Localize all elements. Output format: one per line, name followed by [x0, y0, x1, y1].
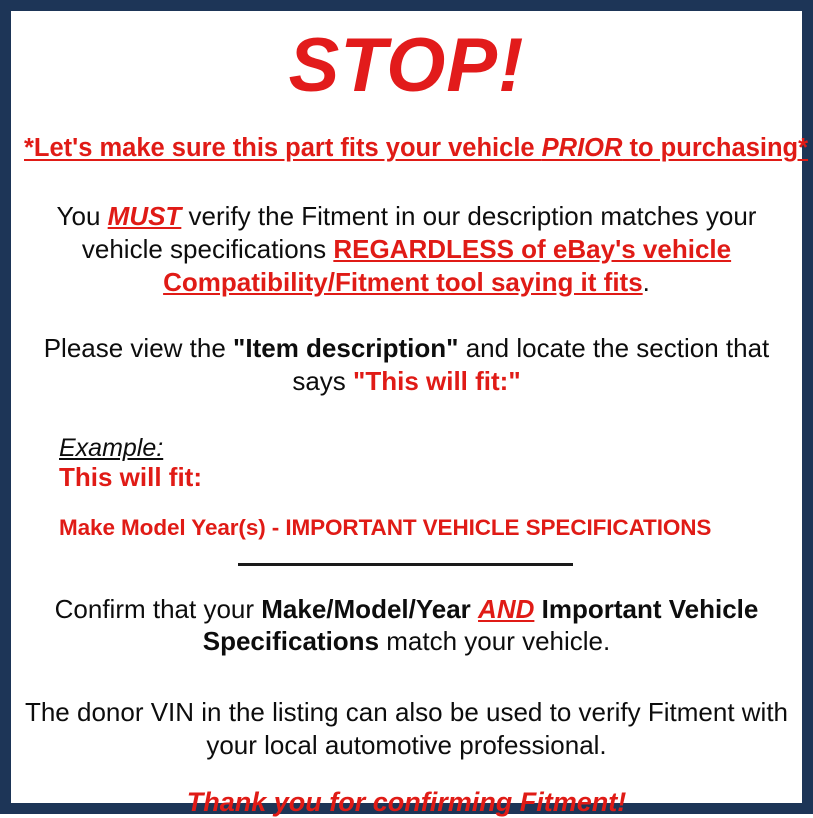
confirm-paragraph: Confirm that your Make/Model/Year AND Im…	[24, 593, 789, 659]
subtitle-prefix: *Let's make sure this part fits your veh…	[24, 134, 542, 162]
and-emphasis-word: AND	[478, 594, 534, 624]
must-verify-paragraph: You MUST verify the Fitment in our descr…	[24, 200, 789, 298]
thank-you-line: Thank you for confirming Fitment!	[24, 787, 789, 818]
confirm-lead-text: Confirm that your	[55, 594, 262, 624]
view-item-description-paragraph: Please view the "Item description" and l…	[24, 332, 789, 398]
example-this-will-fit-label: This will fit:	[59, 463, 789, 492]
horizontal-divider	[238, 563, 573, 566]
must-tail-text: .	[643, 267, 650, 297]
make-model-year-text: Make/Model/Year	[261, 594, 471, 624]
stop-heading: STOP!	[24, 28, 789, 104]
subtitle-emphasis-prior: PRIOR	[542, 134, 623, 162]
must-lead-text: You	[57, 201, 108, 231]
donor-vin-paragraph: The donor VIN in the listing can also be…	[24, 696, 789, 762]
example-label-row: Example:	[59, 434, 789, 462]
example-block: Example: This will fit: Make Model Year(…	[24, 434, 789, 541]
example-label: Example:	[59, 434, 163, 462]
confirm-tail-text: match your vehicle.	[379, 626, 610, 656]
item-description-quote: "Item description"	[233, 333, 458, 363]
example-spec-line: Make Model Year(s) - IMPORTANT VEHICLE S…	[59, 516, 789, 541]
fitment-notice-card: STOP! *Let's make sure this part fits yo…	[0, 0, 813, 814]
this-will-fit-quote: "This will fit:"	[353, 366, 521, 396]
divider-wrap	[24, 563, 789, 577]
subtitle-suffix: to purchasing*	[622, 134, 808, 162]
view-lead-text: Please view the	[44, 333, 233, 363]
confirm-space-1	[471, 594, 478, 624]
must-emphasis-word: MUST	[108, 201, 182, 231]
confirm-space-2	[534, 594, 541, 624]
subtitle-line: *Let's make sure this part fits your veh…	[24, 134, 789, 162]
